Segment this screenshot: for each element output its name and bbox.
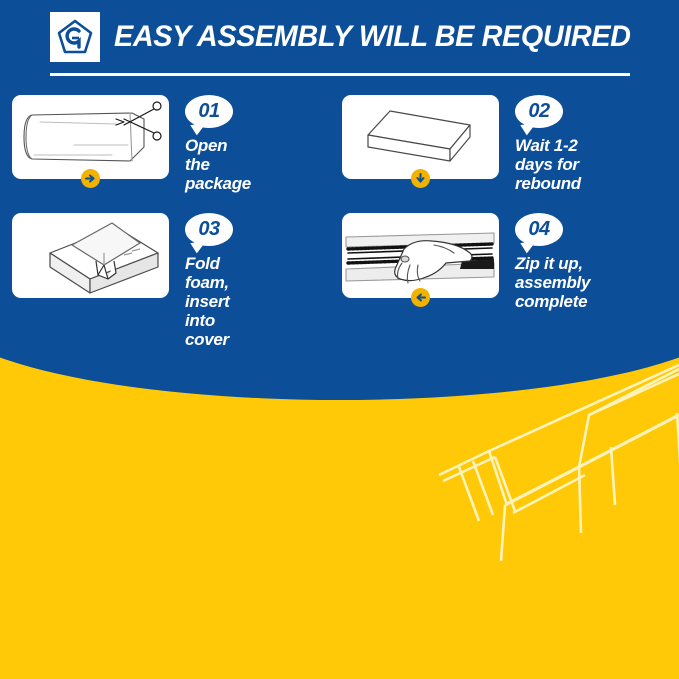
step-01-card [12,95,169,179]
step-02-card [342,95,499,179]
step-02: 02 Wait 1-2 days for rebound [342,95,499,179]
step-01: 01 Open the package [12,95,169,179]
flat-foam-slab-icon [342,95,499,179]
foam-inserted-into-cover-icon [12,213,169,298]
house-pentagon-icon [50,12,100,62]
step-03-label: Fold foam, insert into cover [185,254,233,349]
assembly-section: EASY ASSEMBLY WILL BE REQUIRED [0,0,679,400]
step-04-label: Zip it up, assembly complete [515,254,590,311]
infographic-root: HOW TO MEASURE YOUR FURNITURE [0,0,679,679]
step-02-text: 02 Wait 1-2 days for rebound [515,95,581,193]
step-03-text: 03 Fold foam, insert into cover [185,213,233,349]
step-03-card [12,213,169,298]
arrow-down-icon [411,169,430,188]
step-04-number: 04 [515,213,563,246]
rolled-package-with-scissors-icon [12,95,169,179]
step-04: 04 Zip it up, assembly complete [342,213,499,298]
arrow-left-icon [411,288,430,307]
step-04-card [342,213,499,298]
arrow-right-icon [81,169,100,188]
step-03: 03 Fold foam, insert into cover [12,213,169,298]
step-01-label: Open the package [185,136,251,193]
page-title: EASY ASSEMBLY WILL BE REQUIRED [114,20,631,54]
step-02-number: 02 [515,95,563,128]
assembly-header: EASY ASSEMBLY WILL BE REQUIRED [0,8,679,66]
step-01-text: 01 Open the package [185,95,251,193]
header-divider [50,73,630,76]
hand-zipping-cushion-icon [342,213,499,298]
step-04-text: 04 Zip it up, assembly complete [515,213,590,311]
step-02-label: Wait 1-2 days for rebound [515,136,581,193]
step-03-number: 03 [185,213,233,246]
step-01-number: 01 [185,95,233,128]
